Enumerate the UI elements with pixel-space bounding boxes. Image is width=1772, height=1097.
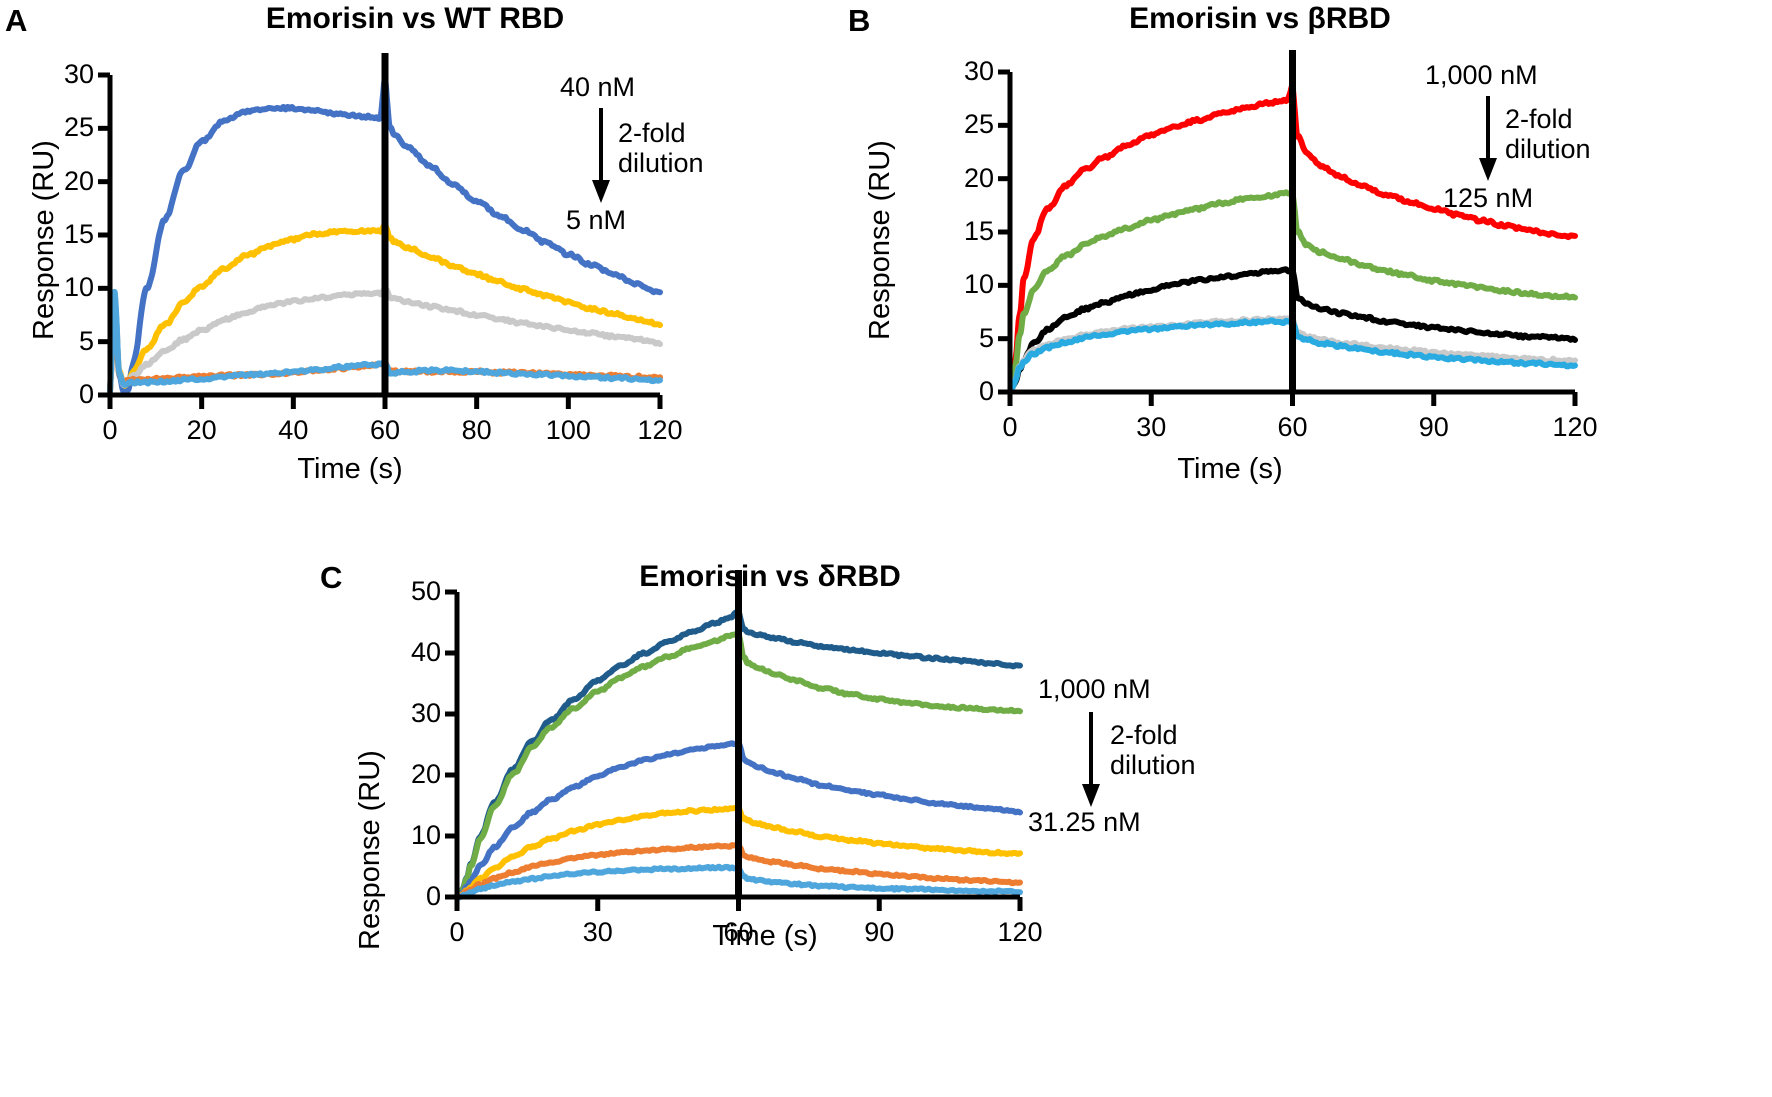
tick-label-x: 0 — [65, 417, 155, 444]
tick-label-x: 60 — [694, 919, 784, 946]
figure-root: A Emorisin vs WT RBD Response (RU) Time … — [0, 0, 1772, 1097]
tick-label-y: 30 — [32, 61, 94, 88]
tick-label-y: 10 — [379, 822, 441, 849]
tick-label-y: 30 — [379, 700, 441, 727]
tick-label-y: 40 — [379, 639, 441, 666]
tick-label-x: 120 — [1530, 414, 1620, 441]
panel-c-plot — [320, 500, 1450, 1097]
tick-label-x: 60 — [1248, 414, 1338, 441]
tick-label-y: 30 — [932, 58, 994, 85]
tick-label-x: 20 — [157, 417, 247, 444]
tick-label-y: 0 — [379, 883, 441, 910]
tick-label-x: 0 — [412, 919, 502, 946]
tick-label-y: 10 — [32, 274, 94, 301]
panel-b: B Emorisin vs βRBD Response (RU) Time (s… — [830, 0, 1772, 490]
panel-a: A Emorisin vs WT RBD Response (RU) Time … — [0, 0, 830, 490]
tick-label-x: 100 — [523, 417, 613, 444]
tick-label-y: 5 — [32, 328, 94, 355]
tick-label-x: 120 — [615, 417, 705, 444]
tick-label-y: 20 — [932, 165, 994, 192]
tick-label-y: 0 — [32, 381, 94, 408]
tick-label-x: 40 — [248, 417, 338, 444]
tick-label-x: 120 — [975, 919, 1065, 946]
panel-c: C Emorisin vs δRBD Response (RU) Time (s… — [320, 500, 1450, 1097]
tick-label-x: 90 — [834, 919, 924, 946]
tick-label-y: 0 — [932, 378, 994, 405]
tick-label-x: 90 — [1389, 414, 1479, 441]
tick-label-y: 10 — [932, 271, 994, 298]
tick-label-y: 50 — [379, 578, 441, 605]
tick-label-x: 60 — [340, 417, 430, 444]
tick-label-y: 20 — [379, 761, 441, 788]
tick-label-y: 5 — [932, 325, 994, 352]
tick-label-x: 80 — [432, 417, 522, 444]
tick-label-y: 15 — [32, 221, 94, 248]
tick-label-y: 25 — [32, 114, 94, 141]
tick-label-y: 25 — [932, 111, 994, 138]
tick-label-y: 15 — [932, 218, 994, 245]
tick-label-y: 20 — [32, 168, 94, 195]
tick-label-x: 0 — [965, 414, 1055, 441]
tick-label-x: 30 — [1106, 414, 1196, 441]
tick-label-x: 30 — [553, 919, 643, 946]
